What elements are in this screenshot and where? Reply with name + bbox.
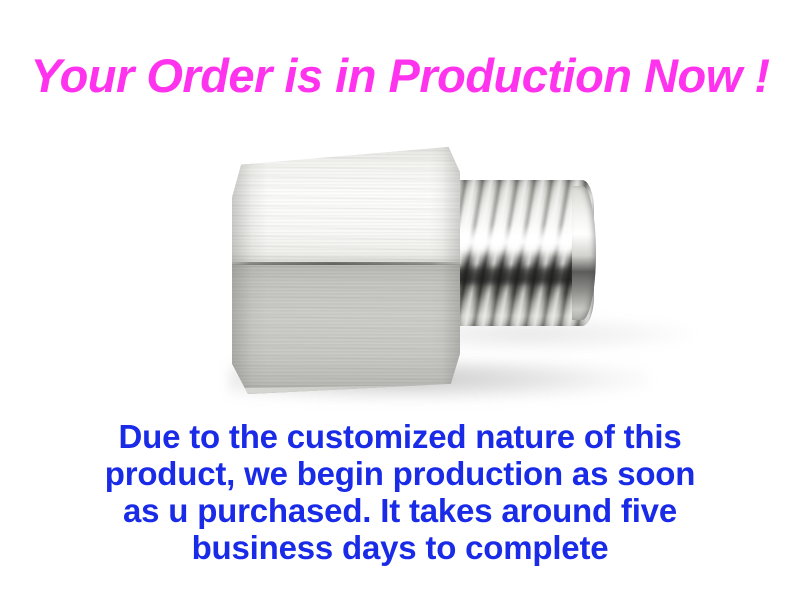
hex-silhouette xyxy=(232,142,460,394)
hex-top-edge-highlight xyxy=(239,142,456,149)
product-image xyxy=(0,120,800,410)
notice-line-2: product, we begin production as soon xyxy=(0,455,800,492)
thread-specular-highlight xyxy=(452,225,590,257)
page-title: Your Order is in Production Now ! xyxy=(0,52,800,100)
hex-right-chamfer-shading xyxy=(430,142,460,394)
notice-line-1: Due to the customized nature of this xyxy=(0,418,800,455)
notice-line-3: as u purchased. It takes around five xyxy=(0,492,800,529)
promotional-banner: Your Order is in Production Now ! xyxy=(0,0,800,600)
production-notice-text: Due to the customized nature of this pro… xyxy=(0,418,800,566)
hex-nut-body xyxy=(232,142,460,394)
notice-line-4: business days to complete xyxy=(0,529,800,566)
thread-shadow-band xyxy=(452,265,588,287)
male-threaded-end xyxy=(452,180,594,326)
hex-left-chamfer-shading xyxy=(232,142,268,394)
